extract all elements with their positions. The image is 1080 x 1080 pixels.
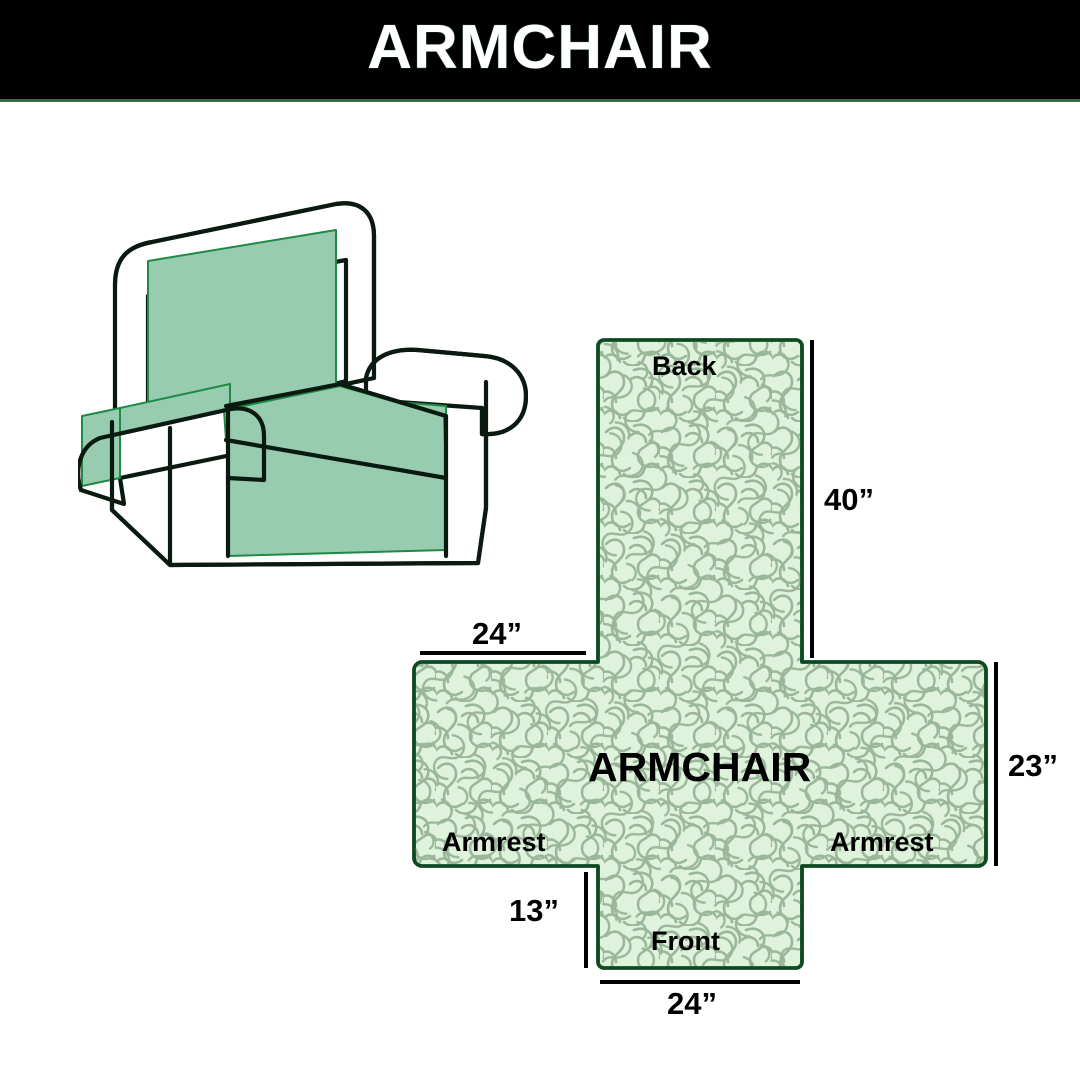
dimension-front-width: 24” <box>667 988 717 1019</box>
panel-label-back: Back <box>652 353 717 380</box>
panel-label-armrest-left: Armrest <box>442 829 546 856</box>
panel-label-armrest-right: Armrest <box>830 829 934 856</box>
header-divider <box>0 99 1080 102</box>
header-band: ARMCHAIR <box>0 0 1080 99</box>
page-title: ARMCHAIR <box>367 17 713 79</box>
page-root: ARMCHAIR <box>0 0 1080 1080</box>
cover-layout-diagram: Back 40” 24” ARMCHAIR 23” Armrest Armres… <box>380 310 1080 1030</box>
dimension-back-width: 24” <box>472 618 522 649</box>
diagram-center-label: ARMCHAIR <box>588 747 811 788</box>
dimension-back-height: 40” <box>824 484 874 515</box>
dimension-armrest-depth: 23” <box>1008 750 1058 781</box>
panel-label-front: Front <box>651 928 720 955</box>
dimension-front-height: 13” <box>509 895 559 926</box>
